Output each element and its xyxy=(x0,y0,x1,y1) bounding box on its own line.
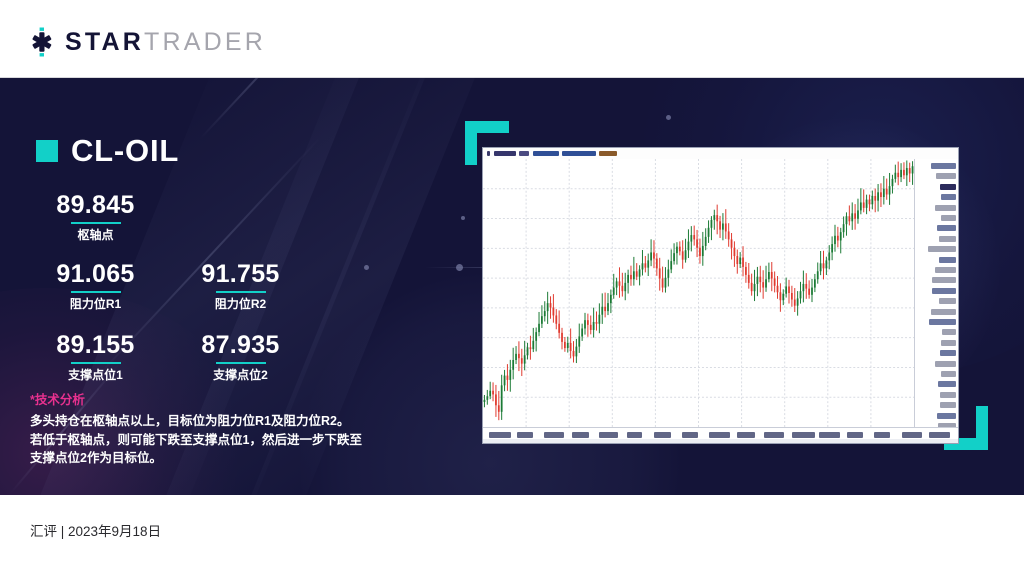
time-tick xyxy=(682,432,698,438)
time-tick xyxy=(517,432,533,438)
time-tick xyxy=(599,432,618,438)
brand-logo[interactable]: STARTRADER xyxy=(27,27,266,57)
price-tick xyxy=(942,329,956,335)
infobar-seg-5 xyxy=(599,151,617,156)
price-tick xyxy=(932,288,956,294)
resistance-1-value: 91.065 xyxy=(23,259,168,289)
resistance-1-cell: 91.065 阻力位R1 xyxy=(23,259,168,312)
dot-2 xyxy=(461,216,465,220)
price-tick xyxy=(939,298,956,304)
price-tick xyxy=(931,163,956,169)
price-tick xyxy=(936,173,956,179)
price-tick xyxy=(940,350,956,356)
price-tick xyxy=(939,236,956,242)
support-1-underline xyxy=(71,362,121,364)
support-2-underline xyxy=(216,362,266,364)
time-tick xyxy=(764,432,784,438)
time-tick xyxy=(819,432,840,438)
price-tick xyxy=(931,309,956,315)
pivot-levels: 89.845 枢轴点 91.065 阻力位R1 91.755 阻力位R2 xyxy=(0,190,440,383)
price-tick xyxy=(937,225,956,231)
analysis-line-3: 支撑点位2作为目标位。 xyxy=(30,449,410,468)
chart-plot-area xyxy=(483,159,914,427)
price-tick xyxy=(939,257,956,263)
price-tick xyxy=(932,277,956,283)
support-1-value: 89.155 xyxy=(23,330,168,360)
resistance-2-underline xyxy=(216,291,266,293)
price-tick xyxy=(941,340,956,346)
infobar-seg-2 xyxy=(519,151,529,156)
pivot-row-resistance: 91.065 阻力位R1 91.755 阻力位R2 xyxy=(0,259,440,312)
resistance-2-cell: 91.755 阻力位R2 xyxy=(168,259,313,312)
support-1-label: 支撑点位1 xyxy=(23,367,168,383)
time-tick xyxy=(847,432,863,438)
streak-thin-2 xyxy=(199,78,310,140)
candlestick-series xyxy=(483,159,914,427)
price-tick xyxy=(938,381,956,387)
analysis-line-2: 若低于枢轴点，则可能下跌至支撑点位1，然后进一步下跌至 xyxy=(30,431,410,450)
dot-1 xyxy=(456,264,463,271)
price-tick xyxy=(928,246,956,252)
time-tick xyxy=(654,432,671,438)
pivot-point-cell: 89.845 枢轴点 xyxy=(23,190,168,243)
price-tick xyxy=(941,371,956,377)
six-point-asterisk-star-icon xyxy=(27,27,57,57)
infobar-seg-3 xyxy=(533,151,559,156)
time-tick xyxy=(929,432,950,438)
price-chart[interactable] xyxy=(482,147,959,444)
price-tick xyxy=(940,184,956,190)
time-tick xyxy=(709,432,730,438)
time-tick xyxy=(792,432,815,438)
time-tick xyxy=(627,432,642,438)
pivot-row-support: 89.155 支撑点位1 87.935 支撑点位2 xyxy=(0,330,440,383)
infobar-seg-1 xyxy=(494,151,516,156)
infobar-seg-symbol xyxy=(487,151,490,156)
resistance-2-label: 阻力位R2 xyxy=(168,296,313,312)
chart-price-axis xyxy=(914,159,958,427)
support-1-cell: 89.155 支撑点位1 xyxy=(23,330,168,383)
time-tick xyxy=(874,432,890,438)
resistance-1-label: 阻力位R1 xyxy=(23,296,168,312)
analysis-line-1: 多头持仓在枢轴点以上，目标位为阻力位R1及阻力位R2。 xyxy=(30,412,410,431)
pivot-row-main: 89.845 枢轴点 xyxy=(0,190,440,243)
chart-horizontal-scrollbar[interactable] xyxy=(483,439,958,443)
price-tick xyxy=(935,205,956,211)
square-bullet-icon xyxy=(36,140,58,162)
analysis-heading: *技术分析 xyxy=(30,391,410,409)
price-tick xyxy=(940,392,956,398)
price-tick xyxy=(929,319,956,325)
price-tick xyxy=(941,215,956,221)
brand-name-star: STAR xyxy=(65,28,144,56)
time-tick xyxy=(902,432,922,438)
resistance-1-underline xyxy=(71,291,121,293)
footer-caption: 汇评 | 2023年9月18日 xyxy=(30,522,161,542)
price-tick xyxy=(935,361,956,367)
brand-name-trader: TRADER xyxy=(144,28,266,56)
support-2-value: 87.935 xyxy=(168,330,313,360)
price-tick xyxy=(941,194,956,200)
page-title: CL-OIL xyxy=(71,135,179,166)
time-tick xyxy=(737,432,755,438)
support-2-label: 支撑点位2 xyxy=(168,367,313,383)
page-footer: 汇评 | 2023年9月18日 xyxy=(0,495,1024,576)
dot-4 xyxy=(666,115,671,120)
resistance-2-value: 91.755 xyxy=(168,259,313,289)
pivot-point-underline xyxy=(71,222,121,224)
price-tick xyxy=(935,267,956,273)
time-tick xyxy=(489,432,511,438)
main-stage: CL-OIL 89.845 枢轴点 91.065 阻力位R1 91.755 xyxy=(0,78,1024,495)
price-tick xyxy=(937,413,956,419)
pivot-point-value: 89.845 xyxy=(23,190,168,220)
pivot-point-label: 枢轴点 xyxy=(23,227,168,243)
time-tick xyxy=(572,432,589,438)
price-tick xyxy=(940,402,956,408)
time-tick xyxy=(544,432,564,438)
technical-analysis: *技术分析 多头持仓在枢轴点以上，目标位为阻力位R1及阻力位R2。 若低于枢轴点… xyxy=(30,391,410,468)
poster-root: STARTRADER CL-OIL xyxy=(0,0,1024,576)
support-2-cell: 87.935 支撑点位2 xyxy=(168,330,313,383)
instrument-title: CL-OIL xyxy=(36,135,179,166)
page-header: STARTRADER xyxy=(0,0,1024,78)
infobar-seg-4 xyxy=(562,151,596,156)
chart-ohlc-infobar xyxy=(483,148,958,159)
